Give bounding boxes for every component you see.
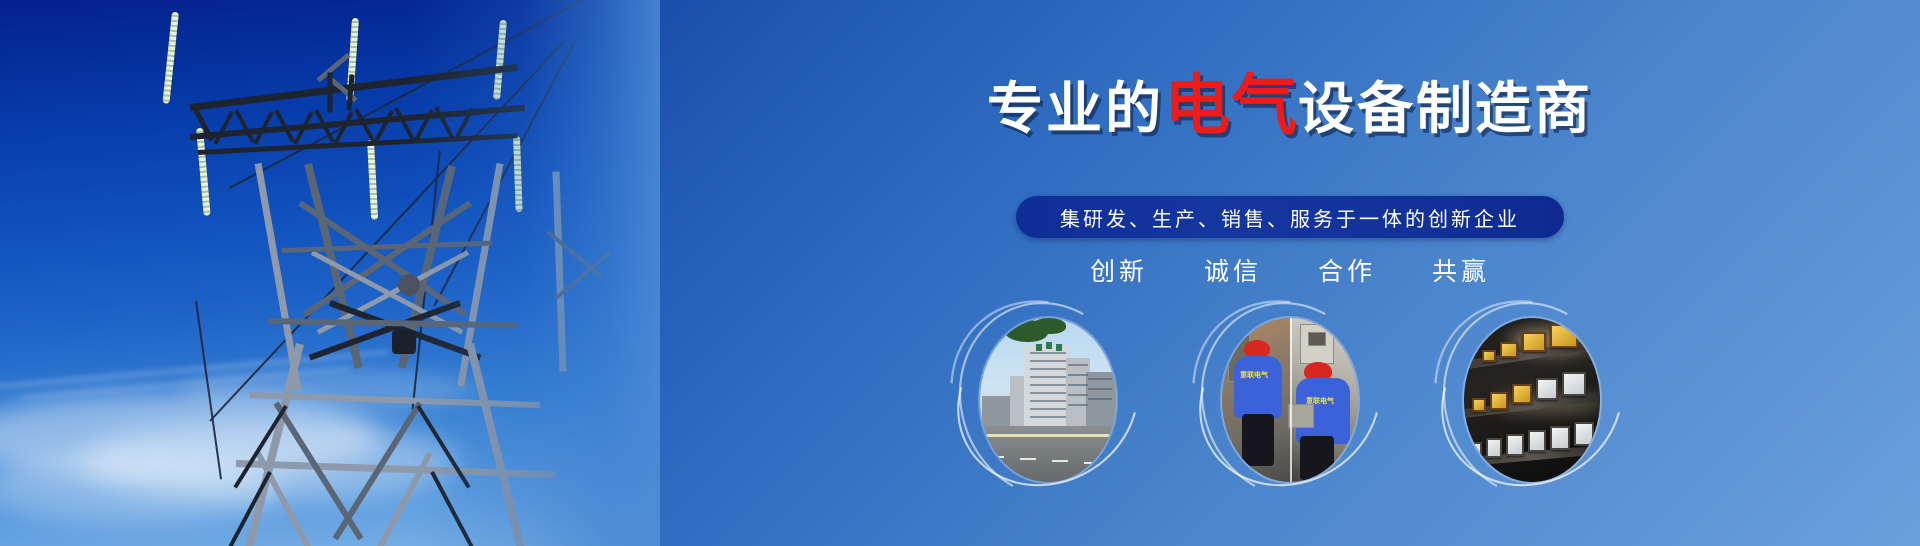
- workers-image: 意联电气 意联电气: [1222, 318, 1358, 482]
- page-title: 专业的电气设备制造商: [660, 72, 1920, 138]
- office-building-image: [980, 318, 1116, 482]
- subtitle-pill: 集研发、生产、销售、服务于一体的创新企业: [1016, 196, 1564, 238]
- photo-circle-office-building: [968, 310, 1128, 490]
- keyword-item: 共赢: [1432, 252, 1490, 288]
- keyword-item: 创新: [1090, 252, 1148, 288]
- keyword-item: 合作: [1318, 252, 1376, 288]
- headline-highlight: 电气: [1164, 68, 1298, 142]
- keyword-list: 创新 诚信 合作 共赢: [660, 252, 1920, 288]
- photo-edge-fade: [410, 0, 660, 546]
- hero-banner: 专业的电气设备制造商 集研发、生产、销售、服务于一体的创新企业 创新 诚信 合作…: [0, 0, 1920, 546]
- keyword-item: 诚信: [1204, 252, 1262, 288]
- banner-content: 专业的电气设备制造商 集研发、生产、销售、服务于一体的创新企业 创新 诚信 合作…: [660, 0, 1920, 546]
- transmission-tower-photo: [0, 0, 660, 546]
- photo-circle-group: 意联电气 意联电气: [660, 310, 1920, 490]
- headline-part-1: 专业的: [987, 77, 1164, 140]
- photo-circle-workers: 意联电气 意联电气: [1210, 310, 1370, 490]
- photo-circle-certificates: [1452, 310, 1612, 490]
- certificate-wall-image: [1464, 318, 1600, 482]
- headline-part-2: 设备制造商: [1298, 77, 1593, 140]
- subtitle-text: 集研发、生产、销售、服务于一体的创新企业: [1060, 203, 1520, 232]
